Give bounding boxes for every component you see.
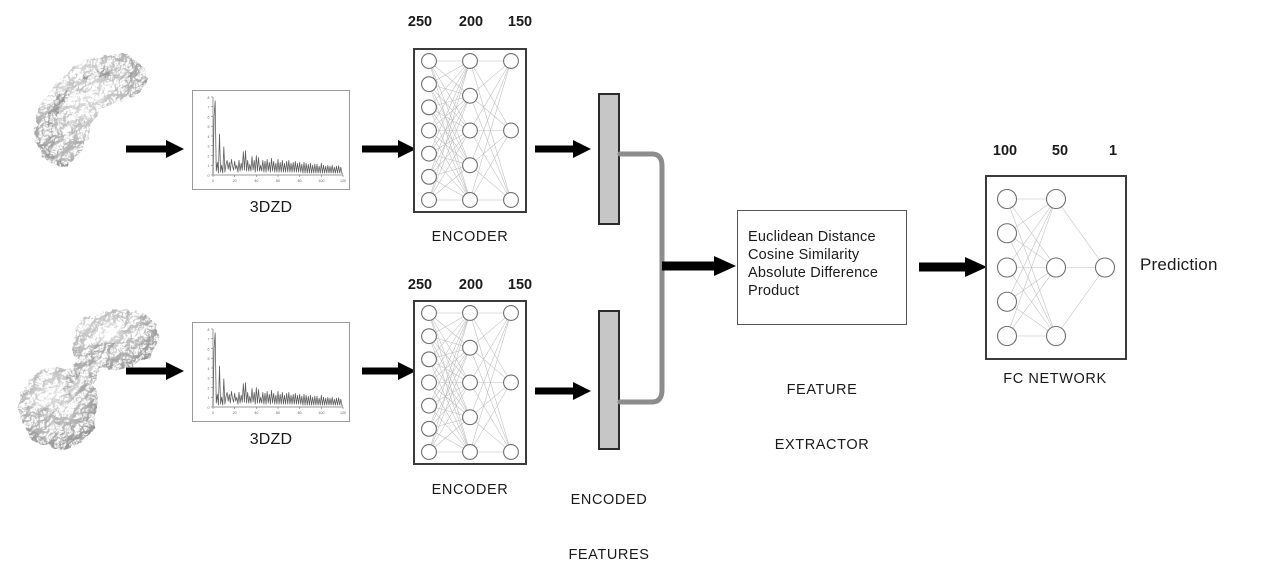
descriptor-chart-bottom: 012345678020406080100120 (192, 322, 350, 422)
encoder-top-layer-size-0: 250 (400, 14, 440, 30)
arrow-features-to-extractor (660, 254, 738, 278)
svg-text:4: 4 (208, 367, 210, 371)
svg-text:6: 6 (208, 347, 210, 351)
feature-extractor-label: FEATURE EXTRACTOR (737, 345, 907, 472)
feature-extractor-label-line2: EXTRACTOR (737, 436, 907, 454)
arrow-encoder-to-features-top (533, 138, 593, 160)
svg-text:80: 80 (298, 411, 302, 415)
arrow-encoder-to-features-bottom (533, 380, 593, 402)
svg-text:120: 120 (340, 179, 346, 183)
svg-text:80: 80 (298, 179, 302, 183)
descriptor-chart-top: 012345678020406080100120 (192, 90, 350, 190)
fc-layer-size-2: 1 (1093, 143, 1133, 159)
svg-text:1: 1 (208, 396, 210, 400)
svg-text:2: 2 (208, 386, 210, 390)
encoder-box-bottom (413, 300, 527, 465)
encoder-bottom-layer-size-1: 200 (451, 277, 491, 293)
encoder-box-top (413, 48, 527, 213)
svg-text:60: 60 (276, 179, 280, 183)
svg-text:6: 6 (208, 115, 210, 119)
protein-surface-top (14, 28, 164, 193)
svg-text:1: 1 (208, 164, 210, 168)
feature-extractor-box: Euclidean Distance Cosine Similarity Abs… (737, 210, 907, 325)
fc-layer-size-0: 100 (985, 143, 1025, 159)
svg-text:4: 4 (208, 135, 210, 139)
merge-bracket (618, 148, 678, 408)
encoder-bottom-layer-size-2: 150 (500, 277, 540, 293)
encoded-features-label-line1: ENCODED (549, 491, 669, 509)
svg-text:3: 3 (208, 377, 210, 381)
svg-text:20: 20 (233, 179, 237, 183)
svg-text:8: 8 (208, 96, 210, 100)
prediction-output-label: Prediction (1140, 254, 1260, 275)
svg-text:40: 40 (254, 179, 258, 183)
svg-text:8: 8 (208, 328, 210, 332)
encoded-feature-bar-top (598, 93, 620, 225)
feature-extractor-op-3: Product (738, 282, 906, 300)
svg-text:100: 100 (318, 179, 324, 183)
feature-extractor-op-2: Absolute Difference (738, 264, 906, 282)
svg-text:0: 0 (212, 179, 214, 183)
feature-extractor-op-1: Cosine Similarity (738, 246, 906, 264)
svg-text:2: 2 (208, 154, 210, 158)
encoder-bottom-layer-size-0: 250 (400, 277, 440, 293)
svg-text:20: 20 (233, 411, 237, 415)
arrow-descriptor-to-encoder-top (360, 138, 418, 160)
descriptor-label-top: 3DZD (192, 198, 350, 218)
fc-network-label: FC NETWORK (975, 370, 1135, 388)
encoder-label-top: ENCODER (403, 228, 537, 246)
encoded-feature-bar-bottom (598, 310, 620, 450)
svg-text:0: 0 (212, 411, 214, 415)
svg-text:60: 60 (276, 411, 280, 415)
encoder-top-layer-size-1: 200 (451, 14, 491, 30)
svg-text:120: 120 (340, 411, 346, 415)
arrow-descriptor-to-encoder-bottom (360, 360, 418, 382)
encoded-features-label-line2: FEATURES (549, 546, 669, 564)
arrow-protein-to-descriptor-top (124, 138, 186, 160)
arrow-extractor-to-fc (917, 255, 989, 279)
svg-text:3: 3 (208, 145, 210, 149)
encoder-label-bottom: ENCODER (403, 481, 537, 499)
svg-text:40: 40 (254, 411, 258, 415)
descriptor-label-bottom: 3DZD (192, 430, 350, 450)
svg-text:100: 100 (318, 411, 324, 415)
encoder-top-layer-size-2: 150 (500, 14, 540, 30)
svg-text:5: 5 (208, 125, 210, 129)
svg-text:7: 7 (208, 106, 210, 110)
svg-text:7: 7 (208, 338, 210, 342)
fc-network-box (985, 175, 1127, 360)
fc-layer-size-1: 50 (1040, 143, 1080, 159)
svg-text:5: 5 (208, 357, 210, 361)
feature-extractor-label-line1: FEATURE (737, 381, 907, 399)
arrow-protein-to-descriptor-bottom (124, 360, 186, 382)
svg-text:0: 0 (208, 406, 210, 410)
feature-extractor-op-0: Euclidean Distance (738, 211, 906, 246)
svg-text:0: 0 (208, 174, 210, 178)
encoded-features-label: ENCODED FEATURES (549, 455, 669, 582)
